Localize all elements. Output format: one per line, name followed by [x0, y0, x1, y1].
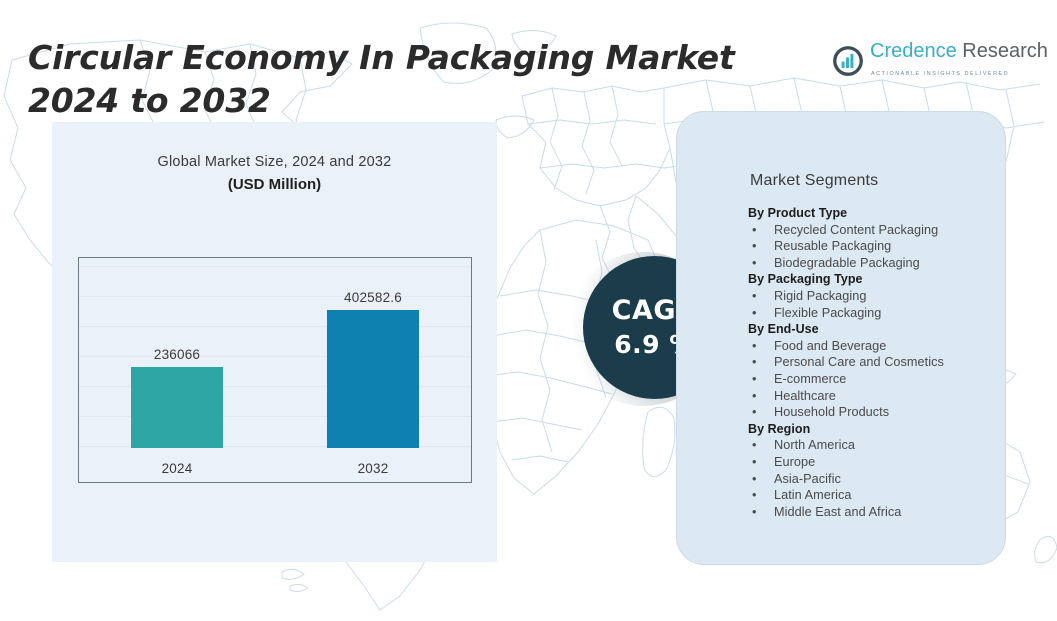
segment-group-title: By Product Type	[748, 205, 998, 222]
chart-heading-line1: Global Market Size, 2024 and 2032	[52, 152, 497, 172]
segment-item: •E-commerce	[748, 371, 998, 388]
credence-research-logo: Credence Research Actionable Insights De…	[833, 40, 1013, 82]
segment-item: •Recycled Content Packaging	[748, 222, 998, 239]
segment-item: •Personal Care and Cosmetics	[748, 354, 998, 371]
segment-item-label: E-commerce	[774, 372, 846, 386]
segment-item-label: Reusable Packaging	[774, 239, 891, 253]
bar-category-label: 2024	[79, 461, 275, 476]
logo-word-credence: Credence	[870, 40, 957, 62]
segment-item-label: Asia-Pacific	[774, 472, 841, 486]
chart-heading-line2: (USD Million)	[52, 174, 497, 196]
logo-word-research: Research	[962, 40, 1048, 62]
bar-group: 402582.6	[275, 290, 471, 448]
market-segments-list: By Product Type•Recycled Content Packagi…	[748, 205, 998, 520]
page-title: Circular Economy In Packaging Market 202…	[28, 36, 798, 122]
segment-item-label: Latin America	[774, 488, 852, 502]
segment-item: •Healthcare	[748, 388, 998, 405]
segment-item-label: Food and Beverage	[774, 339, 886, 353]
bullet-icon: •	[752, 354, 757, 371]
segment-item: •Flexible Packaging	[748, 305, 998, 322]
bar-group: 236066	[79, 347, 275, 448]
bullet-icon: •	[752, 238, 757, 255]
bullet-icon: •	[752, 255, 757, 272]
segment-item: •Europe	[748, 454, 998, 471]
logo-tagline: Actionable Insights Delivered	[870, 71, 1009, 77]
segment-item: •Household Products	[748, 404, 998, 421]
bullet-icon: •	[752, 288, 757, 305]
segment-item-label: Europe	[774, 455, 815, 469]
segment-item-label: North America	[774, 438, 855, 452]
chart-heading: Global Market Size, 2024 and 2032 (USD M…	[52, 152, 497, 196]
segment-item: •Food and Beverage	[748, 338, 998, 355]
bullet-icon: •	[752, 504, 757, 521]
segment-item-label: Household Products	[774, 405, 889, 419]
bar-rect	[327, 310, 419, 448]
segment-item-label: Flexible Packaging	[774, 306, 881, 320]
bullet-icon: •	[752, 404, 757, 421]
bullet-icon: •	[752, 222, 757, 239]
bullet-icon: •	[752, 454, 757, 471]
segment-item: •Middle East and Africa	[748, 504, 998, 521]
chart-bars: 236066402582.6	[79, 290, 471, 448]
bar-chart-plot-area: 236066402582.6 20242032	[78, 257, 472, 483]
bullet-icon: •	[752, 487, 757, 504]
bar-category-label: 2032	[275, 461, 471, 476]
segment-item-label: Biodegradable Packaging	[774, 256, 920, 270]
market-segments-title: Market Segments	[750, 172, 878, 190]
segment-item-label: Recycled Content Packaging	[774, 223, 938, 237]
segment-group-title: By End-Use	[748, 321, 998, 338]
segment-item: •Asia-Pacific	[748, 471, 998, 488]
segment-item-label: Rigid Packaging	[774, 289, 866, 303]
chart-category-labels: 20242032	[79, 454, 471, 476]
bullet-icon: •	[752, 371, 757, 388]
credence-bar-chart-circle-icon	[833, 46, 863, 76]
bullet-icon: •	[752, 388, 757, 405]
segment-item: •North America	[748, 437, 998, 454]
segment-item-label: Middle East and Africa	[774, 505, 901, 519]
bullet-icon: •	[752, 338, 757, 355]
chart-gridline	[79, 266, 471, 267]
bullet-icon: •	[752, 437, 757, 454]
bar-value-label: 236066	[79, 347, 275, 362]
infographic-page: Circular Economy In Packaging Market 202…	[0, 0, 1057, 621]
bar-rect	[131, 367, 223, 448]
segment-item: •Reusable Packaging	[748, 238, 998, 255]
segment-group-title: By Packaging Type	[748, 271, 998, 288]
segment-item: •Biodegradable Packaging	[748, 255, 998, 272]
bullet-icon: •	[752, 471, 757, 488]
bullet-icon: •	[752, 305, 757, 322]
segment-group-title: By Region	[748, 421, 998, 438]
bar-value-label: 402582.6	[275, 290, 471, 305]
segment-item-label: Personal Care and Cosmetics	[774, 355, 944, 369]
segment-item-label: Healthcare	[774, 389, 836, 403]
segment-item: •Rigid Packaging	[748, 288, 998, 305]
segment-item: •Latin America	[748, 487, 998, 504]
